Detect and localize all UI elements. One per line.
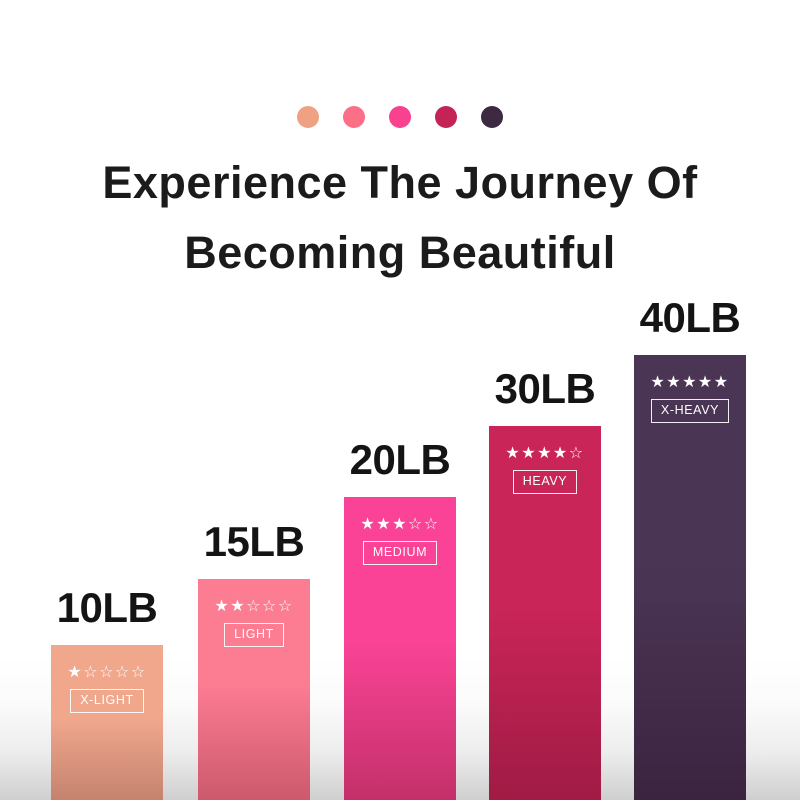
bar-weight-label: 10LB (51, 585, 163, 631)
star-rating-icon: ★★★☆☆ (360, 515, 439, 532)
bar-x-light[interactable]: ★☆☆☆☆X-LIGHT (51, 645, 163, 800)
bar-light[interactable]: ★★☆☆☆LIGHT (198, 579, 310, 800)
bar-group-heavy: 30LB★★★★☆HEAVY (489, 0, 601, 800)
bar-group-light: 15LB★★☆☆☆LIGHT (198, 0, 310, 800)
star-rating-icon: ★☆☆☆☆ (67, 663, 146, 680)
poster-canvas: Experience The Journey Of Becoming Beaut… (0, 0, 800, 800)
resistance-level-badge: LIGHT (224, 623, 284, 647)
bar-content: ★★☆☆☆LIGHT (198, 597, 310, 647)
bar-weight-label: 40LB (634, 295, 746, 341)
bar-weight-label: 20LB (344, 437, 456, 483)
bar-content: ★★★☆☆MEDIUM (344, 515, 456, 565)
resistance-level-badge: X-HEAVY (651, 399, 729, 423)
bar-heavy[interactable]: ★★★★☆HEAVY (489, 426, 601, 800)
bar-group-x-light: 10LB★☆☆☆☆X-LIGHT (51, 0, 163, 800)
star-rating-icon: ★★★★☆ (505, 444, 584, 461)
resistance-bar-chart: 10LB★☆☆☆☆X-LIGHT15LB★★☆☆☆LIGHT20LB★★★☆☆M… (0, 0, 800, 800)
bar-x-heavy[interactable]: ★★★★★X-HEAVY (634, 355, 746, 800)
bar-group-x-heavy: 40LB★★★★★X-HEAVY (634, 0, 746, 800)
resistance-level-badge: HEAVY (513, 470, 577, 494)
bar-content: ★☆☆☆☆X-LIGHT (51, 663, 163, 713)
bar-group-medium: 20LB★★★☆☆MEDIUM (344, 0, 456, 800)
star-rating-icon: ★★★★★ (650, 373, 729, 390)
resistance-level-badge: MEDIUM (363, 541, 437, 565)
bar-weight-label: 15LB (198, 519, 310, 565)
star-rating-icon: ★★☆☆☆ (214, 597, 293, 614)
bar-content: ★★★★★X-HEAVY (634, 373, 746, 423)
bar-weight-label: 30LB (489, 366, 601, 412)
bar-medium[interactable]: ★★★☆☆MEDIUM (344, 497, 456, 800)
bar-content: ★★★★☆HEAVY (489, 444, 601, 494)
resistance-level-badge: X-LIGHT (70, 689, 144, 713)
